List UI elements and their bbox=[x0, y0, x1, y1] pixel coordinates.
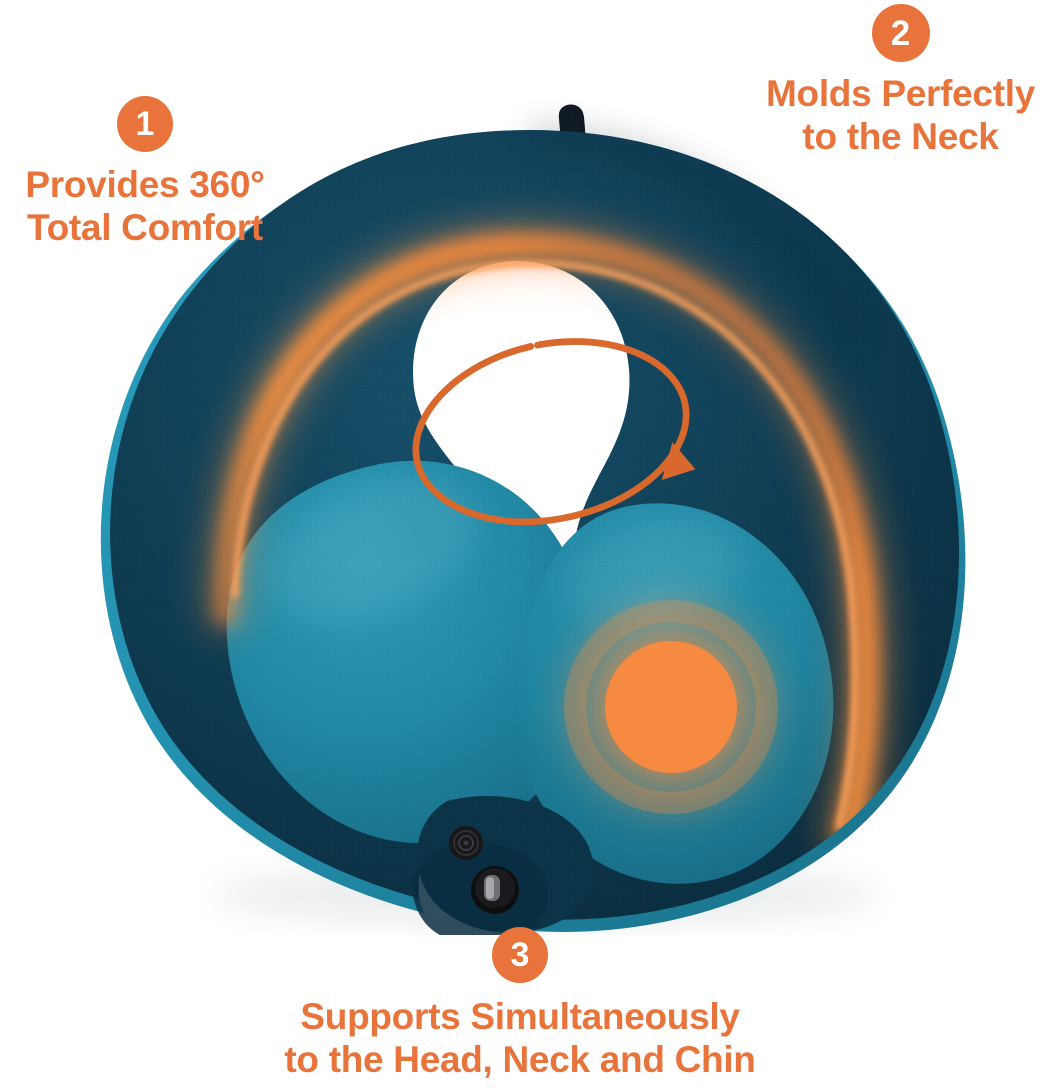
badge-1: 1 bbox=[117, 96, 173, 152]
callout-3-label: Supports Simultaneously to the Head, Nec… bbox=[284, 996, 755, 1082]
callout-2-label: Molds Perfectly to the Neck bbox=[766, 73, 1035, 159]
snap-button-icon bbox=[449, 826, 483, 860]
badge-3: 3 bbox=[492, 927, 548, 983]
pressure-point-glow-icon bbox=[546, 582, 796, 832]
badge-2: 2 bbox=[872, 4, 930, 62]
callout-1-label: Provides 360° Total Comfort bbox=[25, 164, 264, 250]
callout-2: 2 Molds Perfectly to the Neck bbox=[740, 4, 1061, 159]
snap-button-icon bbox=[471, 866, 519, 914]
callout-1: 1 Provides 360° Total Comfort bbox=[0, 96, 290, 250]
callout-3: 3 Supports Simultaneously to the Head, N… bbox=[230, 927, 810, 1082]
infographic-page: 1 Provides 360° Total Comfort 2 Molds Pe… bbox=[0, 0, 1061, 1092]
